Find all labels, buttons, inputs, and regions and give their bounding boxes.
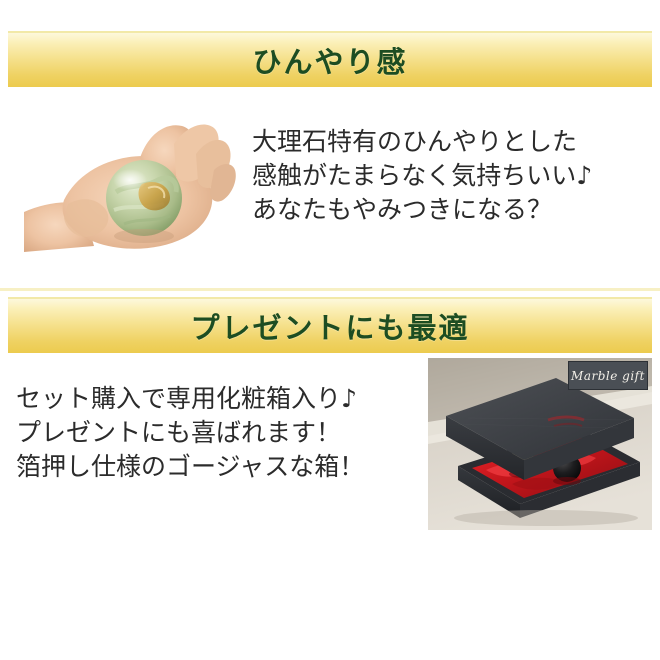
section-body-gift-suitable: セット購入で専用化粧箱入り♪ プレゼントにも喜ばれます！ 箔押し仕様のゴージャス… (16, 382, 364, 484)
marble-gift-inset-label: Marble gift (568, 361, 648, 390)
body-line: プレゼントにも喜ばれます！ (16, 416, 364, 450)
section-cool-feel: 大理石特有のひんやりとした 感触がたまらなく気持ちいい♪ あなたもやみつきになる… (0, 95, 660, 280)
body-line: あなたもやみつきになる？ (252, 193, 592, 227)
section-banner-cool-feel: ひんやり感 (8, 31, 652, 87)
hand-holding-marble-sphere-photo (24, 100, 256, 260)
body-line: セット購入で専用化粧箱入り♪ (16, 382, 364, 416)
banner-title-gift-suitable: プレゼントにも最適 (190, 305, 469, 347)
section-gift-suitable: セット購入で専用化粧箱入り♪ プレゼントにも喜ばれます！ 箔押し仕様のゴージャス… (0, 355, 660, 540)
gift-box-photo: Marble gift (428, 358, 652, 530)
body-line: 感触がたまらなく気持ちいい♪ (252, 159, 592, 193)
marble-gift-label-text: Marble gift (571, 369, 645, 383)
section-divider (0, 288, 660, 291)
section-body-cool-feel: 大理石特有のひんやりとした 感触がたまらなく気持ちいい♪ あなたもやみつきになる… (252, 125, 592, 227)
body-line: 大理石特有のひんやりとした (252, 125, 592, 159)
body-line: 箔押し仕様のゴージャスな箱！ (16, 450, 364, 484)
section-banner-gift-suitable: プレゼントにも最適 (8, 297, 652, 353)
banner-title-cool-feel: ひんやり感 (252, 39, 407, 81)
